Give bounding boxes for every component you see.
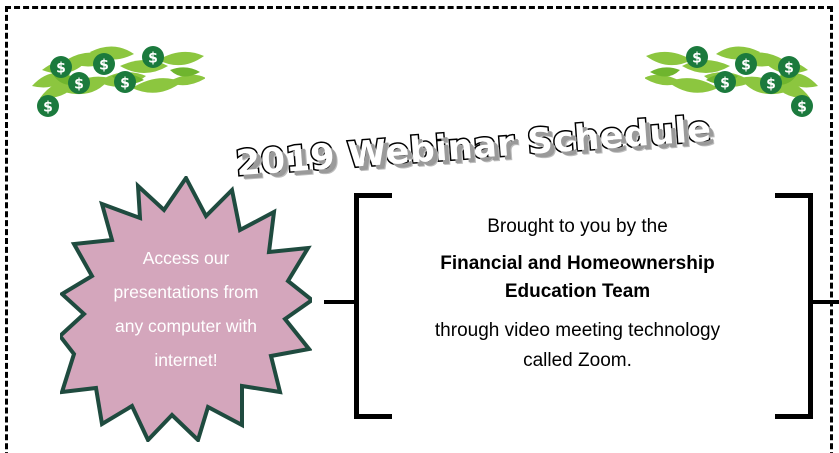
flyer-page: $ $ $ $ $ $ — [0, 0, 839, 453]
money-vine-right-icon: $ $ $ $ $ $ — [645, 26, 830, 121]
credit-organization-line-1: Financial and Homeownership — [395, 250, 760, 278]
left-bracket-tick — [324, 300, 356, 304]
credit-text-block: Brought to you by the Financial and Home… — [395, 212, 760, 376]
credit-intro-line: Brought to you by the — [395, 212, 760, 242]
svg-text:$: $ — [74, 77, 84, 93]
starburst-shape — [60, 178, 312, 440]
svg-text:$: $ — [43, 100, 53, 116]
svg-text:$: $ — [766, 77, 776, 93]
credit-technology-line-2: called Zoom. — [395, 346, 760, 376]
starburst-callout — [60, 176, 312, 442]
svg-text:$: $ — [797, 100, 807, 116]
right-bracket-top-arm — [775, 193, 813, 198]
svg-text:$: $ — [692, 51, 702, 67]
credit-technology-line-1: through video meeting technology — [395, 316, 760, 346]
credit-organization: Financial and Homeownership Education Te… — [395, 250, 760, 306]
left-bracket-top-arm — [354, 193, 392, 198]
svg-text:$: $ — [56, 61, 66, 77]
left-bracket-bottom-arm — [354, 414, 392, 419]
money-vine-left-icon: $ $ $ $ $ $ — [20, 26, 205, 121]
right-bracket-tick — [813, 300, 839, 304]
credit-organization-line-2: Education Team — [395, 278, 760, 306]
left-bracket-stem — [354, 193, 359, 419]
svg-text:$: $ — [148, 51, 158, 67]
svg-text:$: $ — [720, 76, 730, 92]
svg-text:$: $ — [741, 58, 751, 74]
svg-text:$: $ — [120, 76, 130, 92]
credit-technology: through video meeting technology called … — [395, 316, 760, 376]
svg-text:$: $ — [784, 61, 794, 77]
right-bracket-bottom-arm — [775, 414, 813, 419]
right-bracket-stem — [808, 193, 813, 419]
svg-text:$: $ — [99, 58, 109, 74]
